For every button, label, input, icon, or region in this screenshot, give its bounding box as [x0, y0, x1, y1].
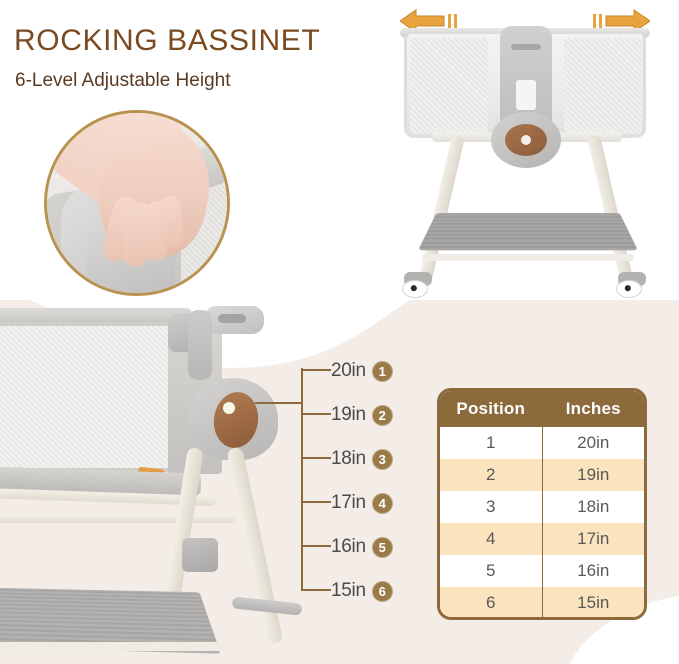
scale-mark: 18in 3	[331, 447, 393, 471]
position-badge: 6	[372, 581, 393, 602]
height-position-table: Position Inches 1 20in 2 19in 3 18in	[437, 388, 647, 620]
scale-mark: 17in 4	[331, 491, 393, 515]
scale-mark-value: 18in	[331, 448, 366, 470]
cell-inches: 20in	[542, 427, 644, 459]
cell-inches: 17in	[542, 523, 644, 555]
table-row: 1 20in	[440, 427, 644, 459]
scale-tick	[301, 501, 331, 503]
scale-mark-value: 15in	[331, 580, 366, 602]
product-end-view-photo	[378, 4, 674, 304]
scale-tick	[301, 457, 331, 459]
scale-mark-value: 16in	[331, 536, 366, 558]
table-row: 6 15in	[440, 587, 644, 619]
cell-position: 2	[440, 459, 542, 491]
position-badge: 2	[372, 405, 393, 426]
hand-adjusting-photo	[47, 113, 227, 293]
position-badge: 4	[372, 493, 393, 514]
callout-pointer-line	[255, 402, 303, 404]
table-row: 3 18in	[440, 491, 644, 523]
cell-inches: 16in	[542, 555, 644, 587]
infographic-root: ROCKING BASSINET 6-Level Adjustable Heig…	[0, 0, 679, 664]
position-badge: 1	[372, 361, 393, 382]
cell-position: 6	[440, 587, 542, 619]
scale-mark: 19in 2	[331, 403, 393, 427]
position-badge: 3	[372, 449, 393, 470]
table-header-inches: Inches	[542, 391, 644, 427]
position-badge: 5	[372, 537, 393, 558]
cell-inches: 15in	[542, 587, 644, 619]
cell-position: 1	[440, 427, 542, 459]
circle-inset-photo	[44, 110, 230, 296]
cell-inches: 18in	[542, 491, 644, 523]
scale-tick	[301, 369, 331, 371]
scale-mark: 20in 1	[331, 359, 393, 383]
table-row: 2 19in	[440, 459, 644, 491]
cell-inches: 19in	[542, 459, 644, 491]
page-title: ROCKING BASSINET	[14, 24, 320, 58]
table-row: 5 16in	[440, 555, 644, 587]
cell-position: 4	[440, 523, 542, 555]
scale-tick	[301, 545, 331, 547]
cell-position: 5	[440, 555, 542, 587]
scale-tick	[301, 589, 331, 591]
scale-mark-value: 20in	[331, 360, 366, 382]
height-measurement-scale: 20in 1 19in 2 18in 3 17in 4 16in 5 15in …	[255, 352, 430, 606]
table-header-position: Position	[440, 391, 542, 427]
scale-tick	[301, 413, 331, 415]
scale-mark-value: 17in	[331, 492, 366, 514]
page-subtitle: 6-Level Adjustable Height	[15, 70, 230, 92]
scale-mark-value: 19in	[331, 404, 366, 426]
scale-mark: 16in 5	[331, 535, 393, 559]
cell-position: 3	[440, 491, 542, 523]
scale-vertical-bar	[301, 368, 303, 590]
table-row: 4 17in	[440, 523, 644, 555]
scale-mark: 15in 6	[331, 579, 393, 603]
table-header-row: Position Inches	[440, 391, 644, 427]
